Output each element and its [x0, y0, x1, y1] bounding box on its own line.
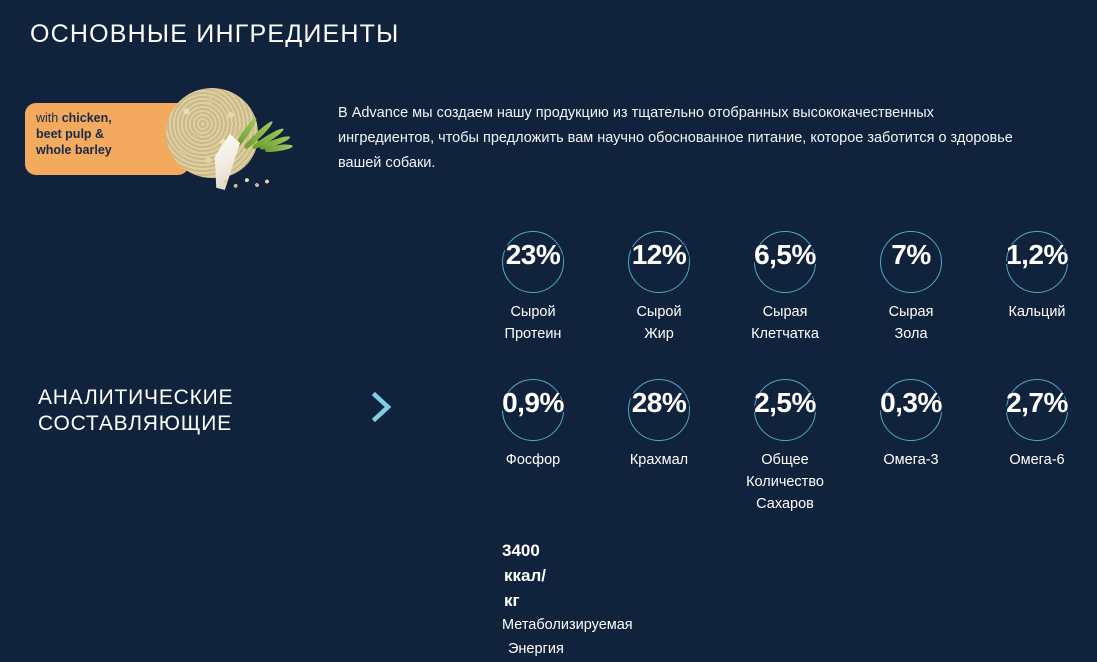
- nutrient-ring-box: 12%: [596, 222, 722, 296]
- analytical-label-line1: АНАЛИТИЧЕСКИЕ: [38, 385, 233, 411]
- analytical-constituents-label: АНАЛИТИЧЕСКИЕ СОСТАВЛЯЮЩИЕ: [38, 385, 233, 437]
- energy-value: 3400: [502, 538, 712, 563]
- nutrient-row-1: 23% Сырой Протеин 12% Сырой Жир: [470, 222, 1097, 370]
- nutrient-value: 2,5%: [722, 387, 848, 419]
- nutrient-label-line1: Крахмал: [596, 449, 722, 471]
- nutrient-item: 28% Крахмал: [596, 370, 722, 520]
- nutrient-label: Омега-6: [974, 449, 1097, 471]
- nutrient-value: 2,7%: [974, 387, 1097, 419]
- nutrient-label-line1: Общее: [722, 449, 848, 471]
- nutrient-label-line2: Протеин: [470, 323, 596, 345]
- nutrient-value: 23%: [470, 239, 596, 271]
- nutrient-ring-box: 28%: [596, 370, 722, 444]
- nutrient-item: 23% Сырой Протеин: [470, 222, 596, 370]
- nutrient-label: Сырая Клетчатка: [722, 301, 848, 345]
- nutrient-value: 0,3%: [848, 387, 974, 419]
- nutrient-ring-box: 2,5%: [722, 370, 848, 444]
- energy-unit-line2: кг: [502, 588, 712, 613]
- nutrient-item: 1,2% Кальций: [974, 222, 1097, 370]
- nutrient-value: 0,9%: [470, 387, 596, 419]
- nutrient-label-line1: Омега-6: [974, 449, 1097, 471]
- nutrient-item: 2,7% Омега-6: [974, 370, 1097, 520]
- nutrient-label: Сырой Протеин: [470, 301, 596, 345]
- intro-text: мы создаем нашу продукцию из тщательно о…: [338, 105, 1013, 171]
- energy-caption-line2: Энергия: [502, 637, 712, 661]
- ingredients-section: ОСНОВНЫЕ ИНГРЕДИЕНТЫ with chicken, beet …: [0, 0, 1097, 662]
- brand-name: В Advance: [338, 105, 412, 121]
- nutrient-ring-box: 7%: [848, 222, 974, 296]
- intro-paragraph: В Advance мы создаем нашу продукцию из т…: [338, 101, 1028, 176]
- metabolizable-energy-block: 3400 ккал/ кг Метаболизируемая Энергия: [502, 538, 712, 661]
- nutrient-label: Крахмал: [596, 449, 722, 471]
- nutrient-item: 0,9% Фосфор: [470, 370, 596, 520]
- nutrient-label: Сырой Жир: [596, 301, 722, 345]
- energy-caption-line1: Метаболизируемая: [502, 617, 633, 633]
- nutrient-value: 28%: [596, 387, 722, 419]
- page-title: ОСНОВНЫЕ ИНГРЕДИЕНТЫ: [30, 20, 399, 49]
- nutrient-ring-box: 23%: [470, 222, 596, 296]
- nutrient-row-2: 0,9% Фосфор 28% Крахмал 2,5%: [470, 370, 1097, 520]
- nutrient-label: Сырая Зола: [848, 301, 974, 345]
- energy-unit-line1: ккал/: [502, 563, 712, 588]
- nutrient-label: Общее Количество Сахаров: [722, 449, 848, 515]
- chevron-right-icon[interactable]: [368, 390, 396, 424]
- nutrient-item: 2,5% Общее Количество Сахаров: [722, 370, 848, 520]
- nutrient-label-line3: Сахаров: [722, 493, 848, 515]
- nutrient-item: 12% Сырой Жир: [596, 222, 722, 370]
- nutrient-label: Кальций: [974, 301, 1097, 323]
- nutrient-label-line1: Омега-3: [848, 449, 974, 471]
- nutrient-label-line1: Сырая: [848, 301, 974, 323]
- nutrient-item: 6,5% Сырая Клетчатка: [722, 222, 848, 370]
- nutrient-ring-box: 1,2%: [974, 222, 1097, 296]
- badge-line1-light: with: [36, 111, 58, 125]
- nutrient-item: 7% Сырая Зола: [848, 222, 974, 370]
- nutrient-label-line1: Сырой: [596, 301, 722, 323]
- nutrient-label-line1: Сырой: [470, 301, 596, 323]
- analytical-label-line2: СОСТАВЛЯЮЩИЕ: [38, 411, 233, 437]
- nutrient-label-line1: Фосфор: [470, 449, 596, 471]
- nutrient-grid: 23% Сырой Протеин 12% Сырой Жир: [470, 222, 1097, 520]
- energy-caption: Метаболизируемая Энергия: [502, 613, 712, 661]
- nutrient-label: Фосфор: [470, 449, 596, 471]
- nutrient-value: 6,5%: [722, 239, 848, 271]
- nutrient-label-line1: Кальций: [974, 301, 1097, 323]
- nutrient-label-line1: Сырая: [722, 301, 848, 323]
- nutrient-ring-box: 0,3%: [848, 370, 974, 444]
- nutrient-ring-box: 0,9%: [470, 370, 596, 444]
- barley-and-beet-illustration: [160, 82, 320, 192]
- nutrient-label-line2: Жир: [596, 323, 722, 345]
- nutrient-label: Омега-3: [848, 449, 974, 471]
- nutrient-item: 0,3% Омега-3: [848, 370, 974, 520]
- barley-specks-icon: [220, 176, 276, 190]
- nutrient-value: 1,2%: [974, 239, 1097, 271]
- nutrient-label-line2: Клетчатка: [722, 323, 848, 345]
- nutrient-label-line2: Зола: [848, 323, 974, 345]
- nutrient-ring-box: 6,5%: [722, 222, 848, 296]
- nutrient-value: 12%: [596, 239, 722, 271]
- badge-line1-bold: chicken,: [62, 111, 112, 125]
- nutrient-ring-box: 2,7%: [974, 370, 1097, 444]
- ingredients-badge-image: with chicken, beet pulp & whole barley: [20, 82, 320, 192]
- nutrient-label-line2: Количество: [722, 471, 848, 493]
- nutrient-value: 7%: [848, 239, 974, 271]
